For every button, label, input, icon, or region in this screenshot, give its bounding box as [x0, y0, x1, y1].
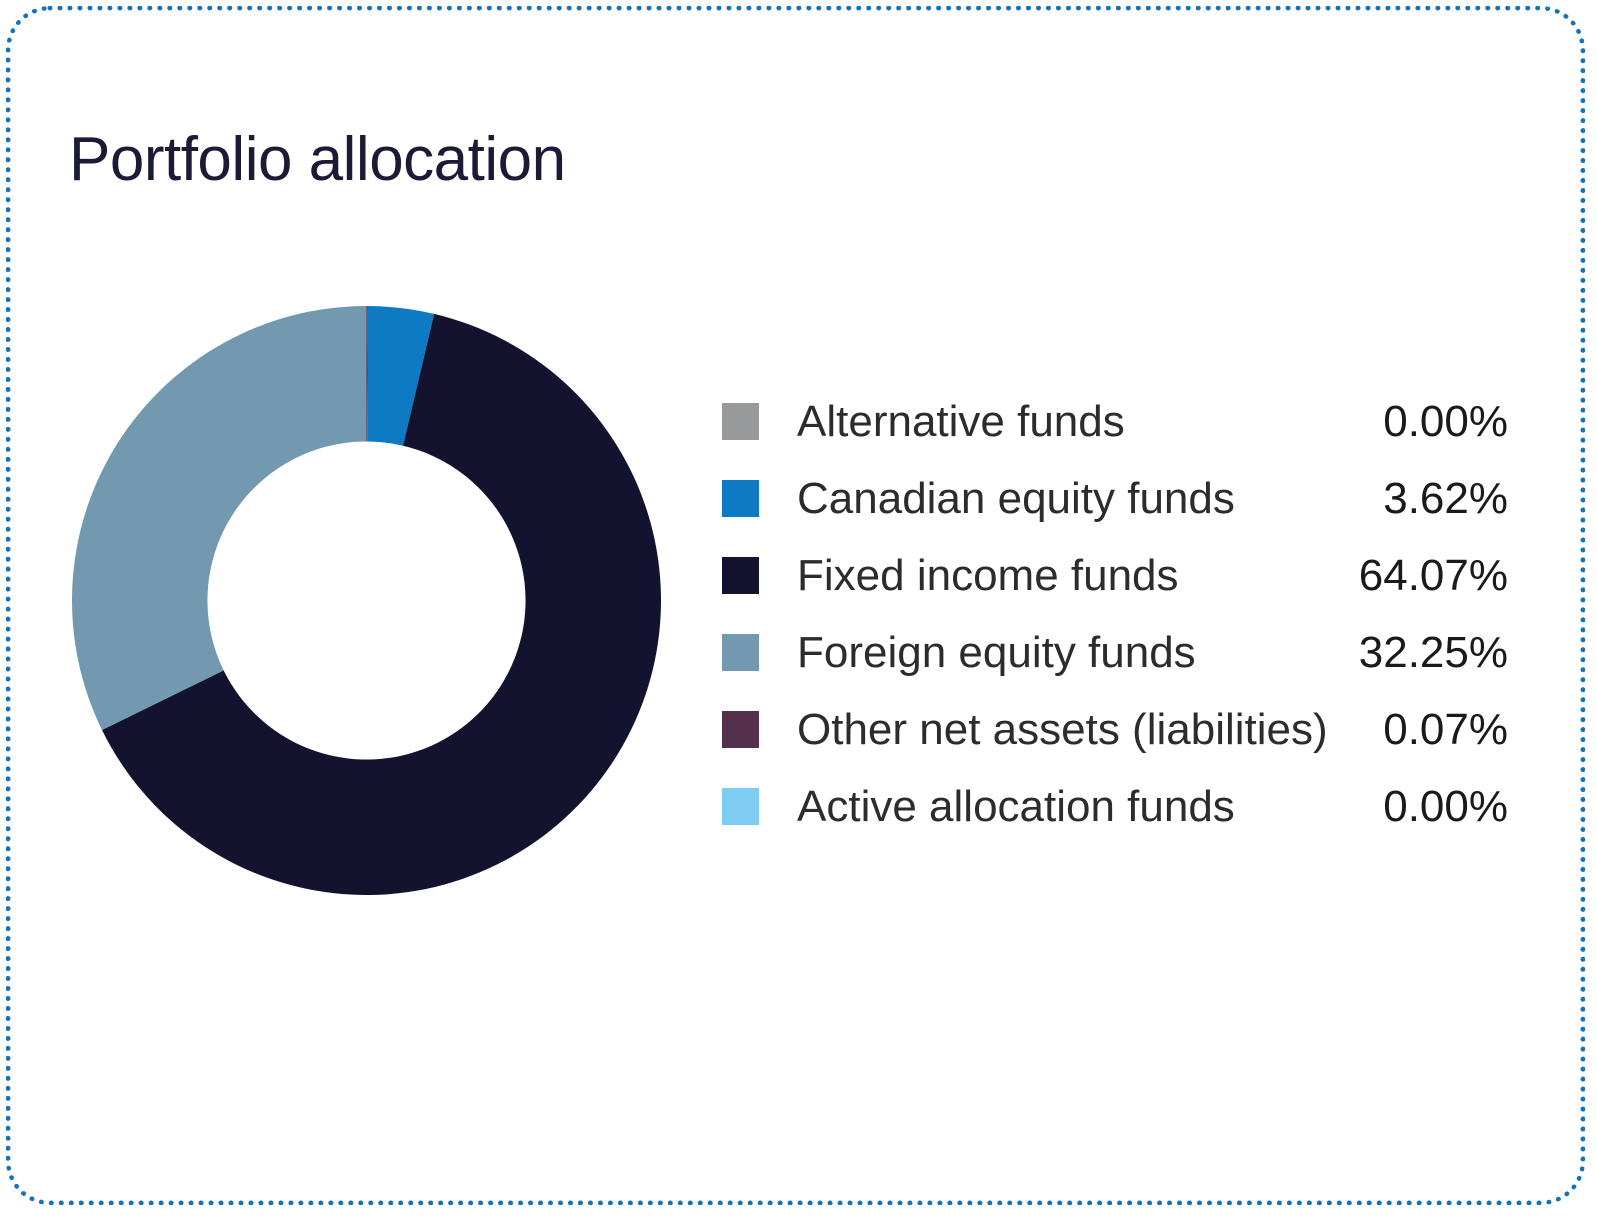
portfolio-allocation-card: Portfolio allocation Alternative funds0.…	[6, 6, 1585, 1205]
legend-item-label: Foreign equity funds	[797, 631, 1196, 675]
swatch-foreign-equity-funds	[722, 634, 759, 671]
legend-item[interactable]: Other net assets (liabilities)0.07%	[716, 691, 1516, 768]
swatch-active-allocation-funds	[722, 788, 759, 825]
page-title: Portfolio allocation	[69, 129, 566, 191]
swatch-fixed-income-funds	[722, 557, 759, 594]
legend-item-label: Other net assets (liabilities)	[797, 708, 1328, 752]
legend-item-value: 64.07%	[1359, 554, 1508, 598]
legend-item-label: Canadian equity funds	[797, 477, 1235, 521]
legend-item-value: 0.07%	[1383, 708, 1508, 752]
donut-svg	[72, 306, 661, 895]
legend-item[interactable]: Foreign equity funds32.25%	[716, 614, 1516, 691]
legend-item[interactable]: Alternative funds0.00%	[716, 383, 1516, 460]
swatch-other-net-assets	[722, 711, 759, 748]
legend-item-value: 3.62%	[1383, 477, 1508, 521]
portfolio-allocation-donut-chart	[72, 306, 661, 895]
legend-item[interactable]: Canadian equity funds3.62%	[716, 460, 1516, 537]
chart-legend: Alternative funds0.00%Canadian equity fu…	[716, 383, 1516, 845]
legend-item-value: 0.00%	[1383, 785, 1508, 829]
legend-item[interactable]: Active allocation funds0.00%	[716, 768, 1516, 845]
swatch-canadian-equity-funds	[722, 480, 759, 517]
swatch-alternative-funds	[722, 403, 759, 440]
legend-item-label: Alternative funds	[797, 400, 1125, 444]
donut-slice[interactable]	[72, 306, 367, 730]
donut-slice-group	[72, 306, 661, 895]
legend-item[interactable]: Fixed income funds64.07%	[716, 537, 1516, 614]
legend-item-value: 32.25%	[1359, 631, 1508, 675]
legend-item-value: 0.00%	[1383, 400, 1508, 444]
legend-item-label: Active allocation funds	[797, 785, 1235, 829]
legend-item-label: Fixed income funds	[797, 554, 1179, 598]
